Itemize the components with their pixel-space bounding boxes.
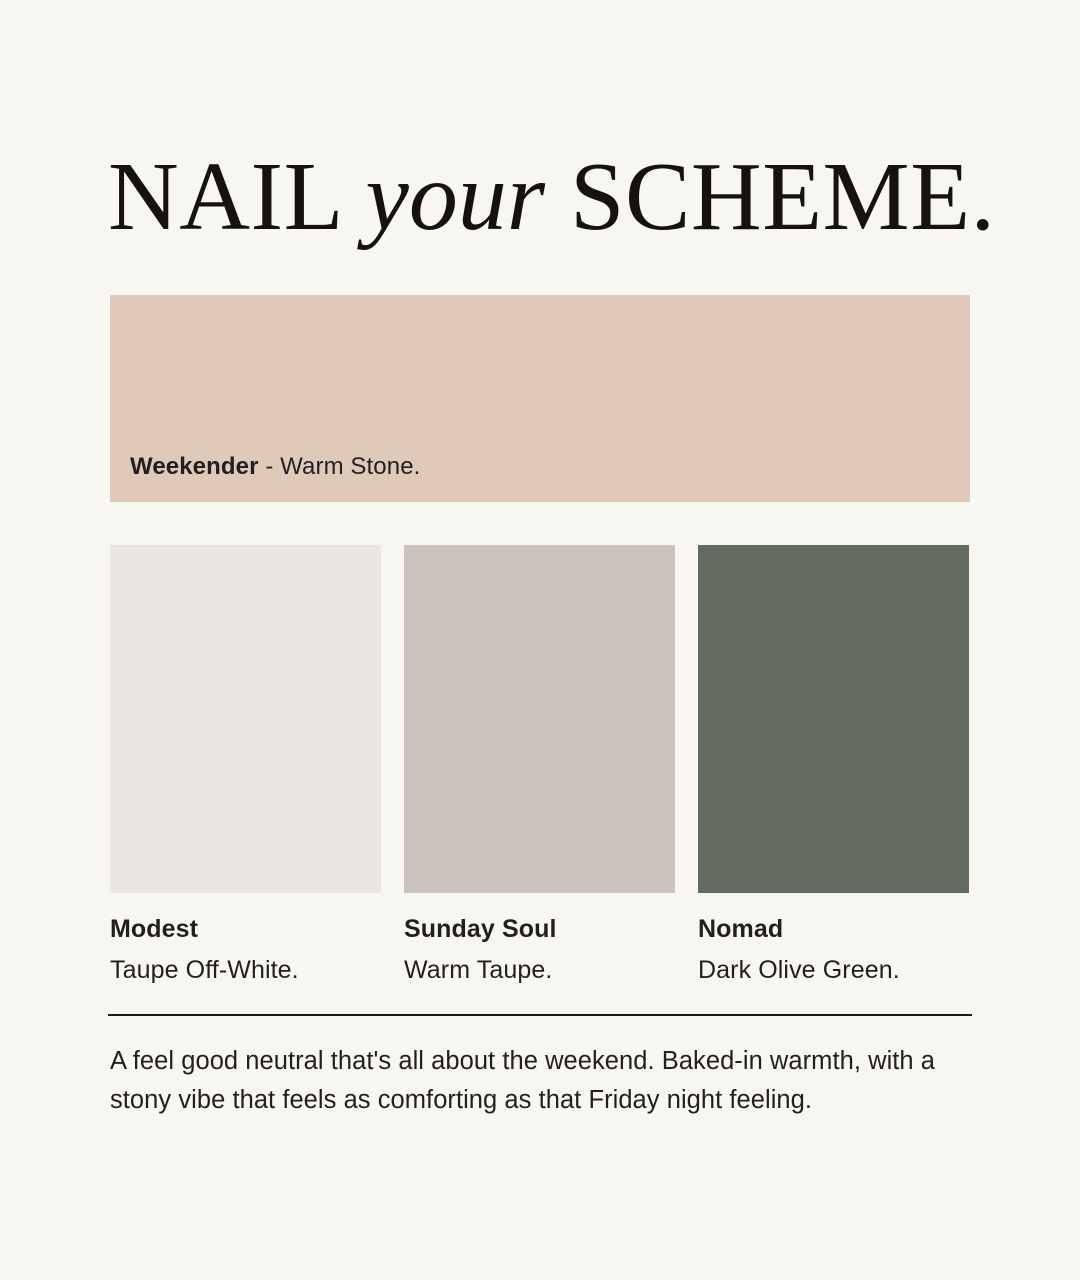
headline-emphasis: your bbox=[365, 143, 545, 251]
swatch-row: Modest Taupe Off-White. Sunday Soul Warm… bbox=[110, 545, 970, 984]
swatch-chip-nomad bbox=[698, 545, 969, 893]
swatch-chip-modest bbox=[110, 545, 381, 893]
swatch-chip-sunday-soul bbox=[404, 545, 675, 893]
swatch-item-nomad: Nomad Dark Olive Green. bbox=[698, 545, 969, 984]
hero-swatch-name: Weekender bbox=[130, 453, 259, 480]
hero-swatch: Weekender - Warm Stone. bbox=[110, 295, 970, 502]
color-scheme-card: NAIL your SCHEME. Weekender - Warm Stone… bbox=[0, 0, 1080, 1280]
headline-part-two: SCHEME. bbox=[570, 143, 996, 251]
swatch-name-nomad: Nomad bbox=[698, 916, 969, 944]
swatch-name-sunday-soul: Sunday Soul bbox=[404, 916, 675, 944]
description-paragraph: A feel good neutral that's all about the… bbox=[110, 1042, 970, 1120]
swatch-description-nomad: Dark Olive Green. bbox=[698, 957, 969, 985]
swatch-description-modest: Taupe Off-White. bbox=[110, 957, 381, 985]
swatch-name-modest: Modest bbox=[110, 916, 381, 944]
swatch-description-sunday-soul: Warm Taupe. bbox=[404, 957, 675, 985]
swatch-item-sunday-soul: Sunday Soul Warm Taupe. bbox=[404, 545, 675, 984]
hero-swatch-label: Weekender - Warm Stone. bbox=[130, 453, 420, 481]
section-divider bbox=[108, 1014, 972, 1016]
headline-part-one: NAIL bbox=[108, 143, 340, 251]
hero-swatch-description: - Warm Stone. bbox=[265, 453, 420, 480]
swatch-item-modest: Modest Taupe Off-White. bbox=[110, 545, 381, 984]
page-title: NAIL your SCHEME. bbox=[108, 148, 1008, 246]
